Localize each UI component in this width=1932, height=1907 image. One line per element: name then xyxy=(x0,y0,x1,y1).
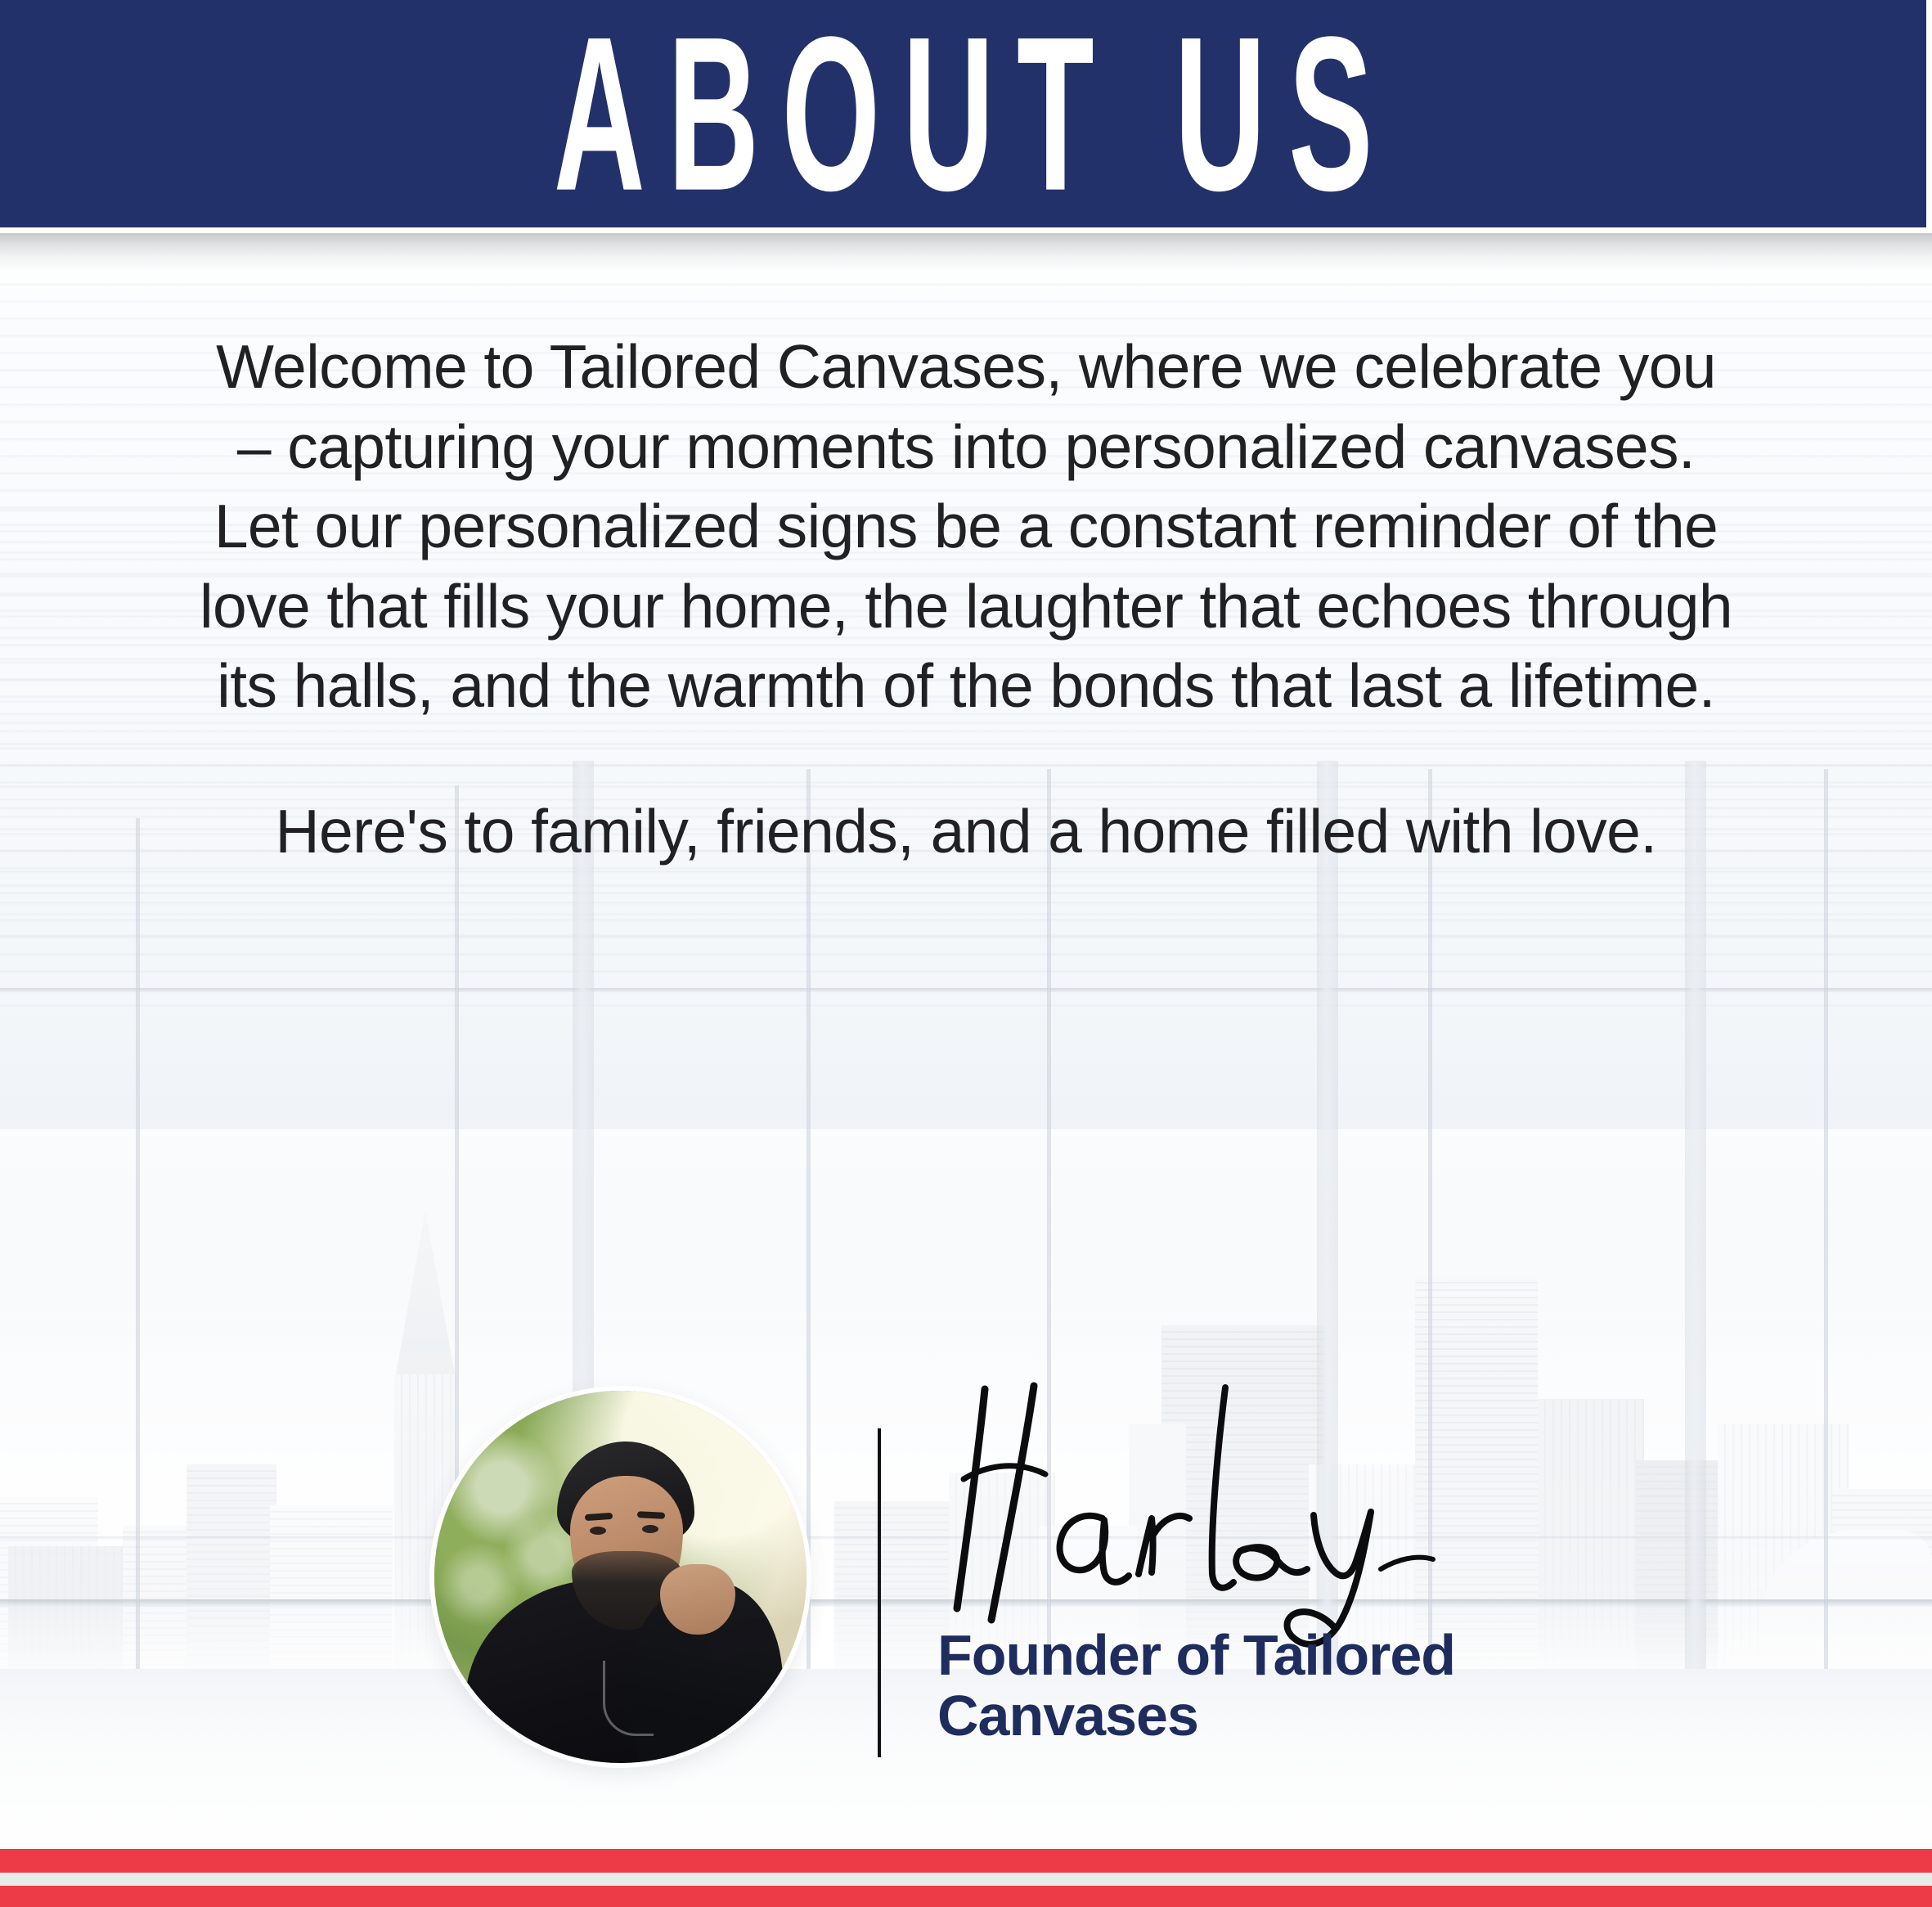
footer-stripe-gap xyxy=(0,1873,1932,1886)
window-transom-top xyxy=(0,988,1932,992)
footer-stripe-top xyxy=(0,1849,1932,1873)
about-paragraph-1: Welcome to Tailored Canvases, where we c… xyxy=(193,327,1739,726)
about-paragraph-2: Here's to family, friends, and a home fi… xyxy=(193,792,1739,872)
about-us-body: Welcome to Tailored Canvases, where we c… xyxy=(193,327,1739,871)
founder-avatar xyxy=(434,1391,806,1763)
header-band: ABOUT US xyxy=(0,0,1927,227)
signature-divider xyxy=(878,1428,881,1757)
founder-role-line-2: Canvases xyxy=(937,1685,1608,1746)
header-right-edge-sliver xyxy=(1926,0,1932,231)
window-mullion xyxy=(1824,769,1828,1694)
founder-role: Founder of Tailored Canvases xyxy=(937,1625,1608,1746)
avatar-eye xyxy=(642,1525,658,1533)
ceiling-shadow-gradient xyxy=(0,233,1932,272)
window-mullion xyxy=(1685,761,1706,1694)
paragraph-spacer xyxy=(193,726,1739,792)
avatar-eyebrow xyxy=(637,1511,665,1519)
footer-stripe-bottom xyxy=(0,1886,1932,1907)
avatar-eye xyxy=(590,1527,606,1535)
founder-signature xyxy=(893,1374,1482,1653)
page-title: ABOUT US xyxy=(532,13,1396,215)
window-mullion xyxy=(806,769,811,1694)
about-us-poster: ABOUT US Welcome to Tailored Canvases, w… xyxy=(0,0,1932,1907)
founder-role-line-1: Founder of Tailored xyxy=(937,1625,1608,1685)
window-mullion xyxy=(136,818,140,1694)
avatar-necklace xyxy=(603,1661,654,1736)
